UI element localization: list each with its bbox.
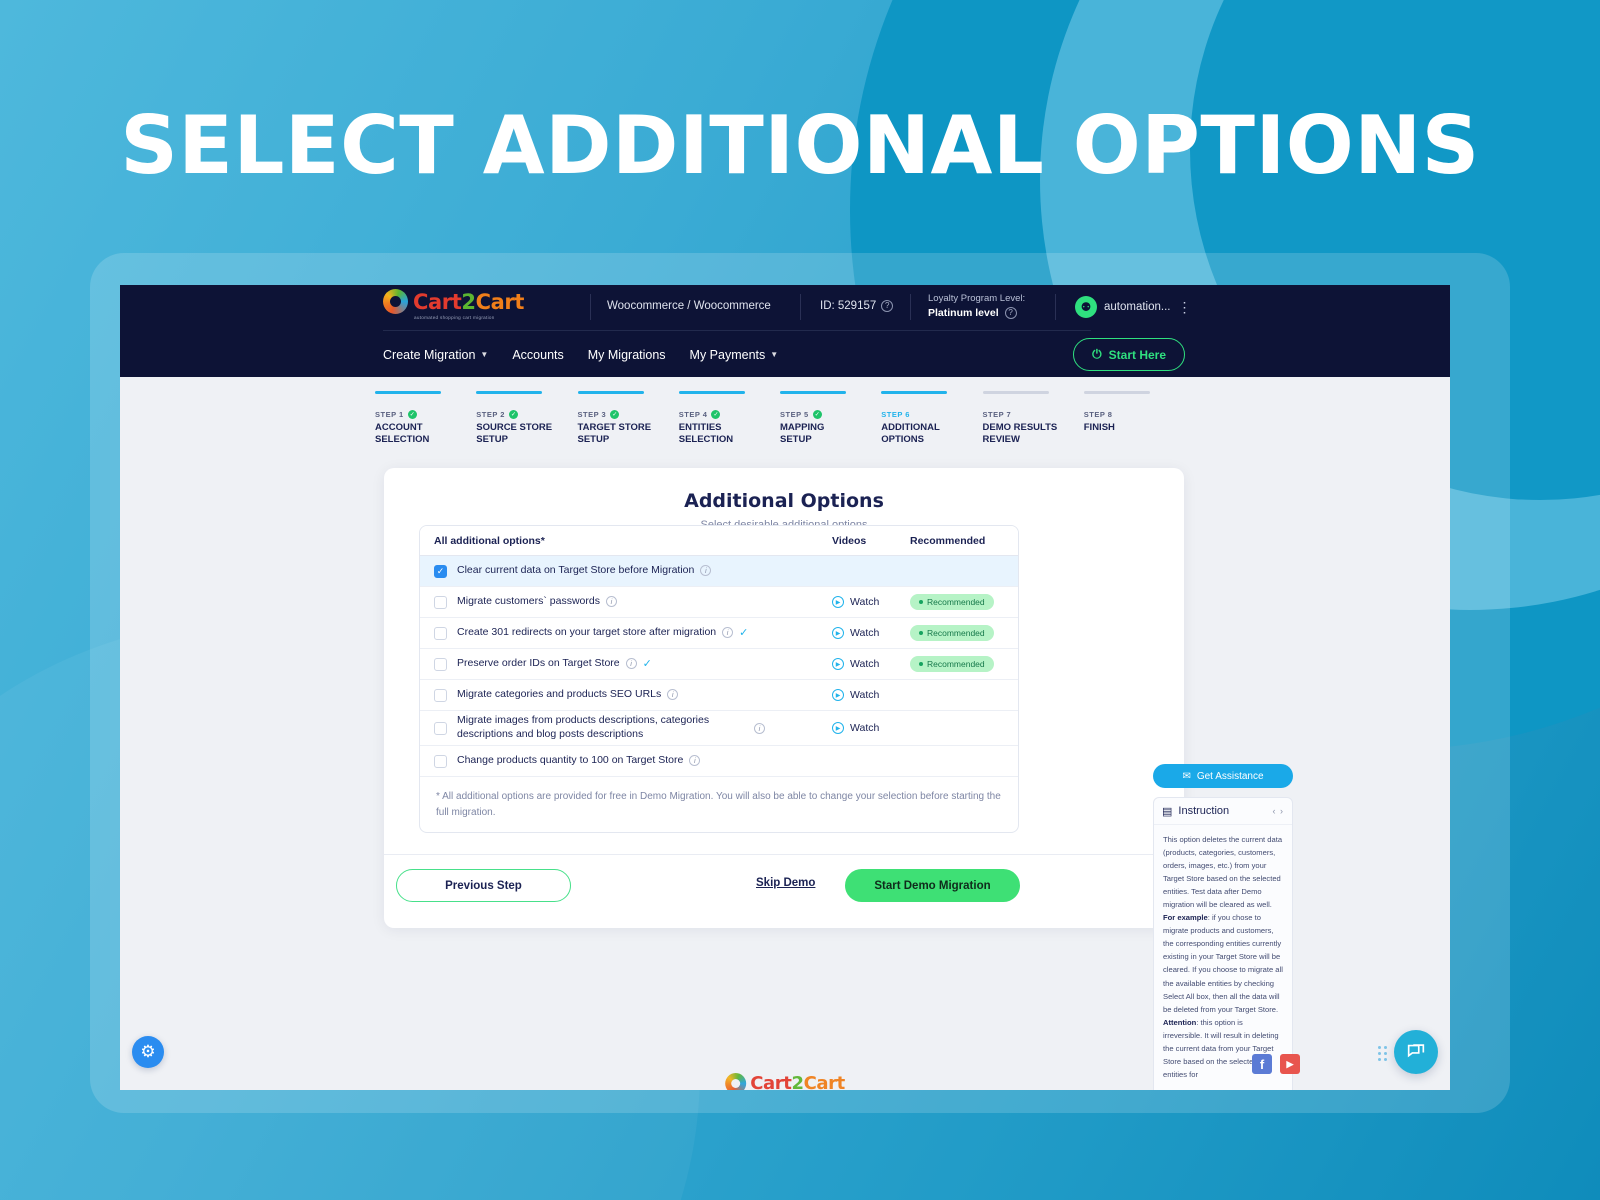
table-row[interactable]: Change products quantity to 100 on Targe… bbox=[420, 746, 1018, 777]
step-2[interactable]: STEP 2 ✓ SOURCE STORE SETUP bbox=[476, 391, 577, 445]
start-here-label: Start Here bbox=[1109, 348, 1166, 362]
step-2-check-icon: ✓ bbox=[509, 410, 518, 419]
step-3-check-icon: ✓ bbox=[610, 410, 619, 419]
menu-label-create-migration: Create Migration bbox=[383, 348, 475, 362]
instruction-example-label: For example bbox=[1163, 913, 1208, 922]
info-icon-row-6[interactable]: i bbox=[754, 723, 765, 734]
loyalty-caption: Loyalty Program Level: bbox=[928, 292, 1025, 306]
table-row[interactable]: Migrate categories and products SEO URLs… bbox=[420, 680, 1018, 711]
instruction-nav-arrows[interactable]: ‹ › bbox=[1273, 806, 1285, 816]
book-icon: ▤ bbox=[1162, 805, 1172, 818]
step-1-number: STEP 1 bbox=[375, 410, 404, 419]
app-window: Cart2Cart automated shopping cart migrat… bbox=[120, 285, 1450, 1090]
chat-drag-handle[interactable] bbox=[1378, 1046, 1390, 1060]
step-6-bar bbox=[881, 391, 947, 394]
video-cell-row-5[interactable]: ▶ Watch bbox=[832, 689, 910, 701]
step-6-number: STEP 6 bbox=[881, 410, 910, 419]
step-8-number: STEP 8 bbox=[1084, 410, 1113, 419]
chat-widget-button[interactable] bbox=[1394, 1030, 1438, 1074]
topbar-separator bbox=[383, 330, 1091, 331]
info-icon-row-4[interactable]: i bbox=[626, 658, 637, 669]
instruction-paragraph-1: This option deletes the current data (pr… bbox=[1163, 835, 1282, 909]
video-cell-row-6[interactable]: ▶ Watch bbox=[832, 722, 910, 734]
menu-label-accounts: Accounts bbox=[512, 348, 563, 362]
step-1-check-icon: ✓ bbox=[408, 410, 417, 419]
footer-logo: Cart2Cart bbox=[725, 1073, 845, 1090]
instruction-paragraph-2: : if you chose to migrate products and c… bbox=[1163, 913, 1283, 1013]
option-checkbox-change-products-quantity[interactable] bbox=[434, 755, 447, 768]
power-icon: ⏻ bbox=[1092, 347, 1102, 362]
step-7-label: DEMO RESULTS REVIEW bbox=[983, 422, 1084, 445]
table-row[interactable]: Migrate images from products description… bbox=[420, 711, 1018, 746]
footer-logo-part1: Cart bbox=[750, 1073, 791, 1090]
step-1[interactable]: STEP 1 ✓ ACCOUNT SELECTION bbox=[375, 391, 476, 445]
play-icon-row-2: ▶ bbox=[832, 596, 844, 608]
instruction-title: Instruction bbox=[1178, 805, 1229, 817]
app-logo[interactable]: Cart2Cart automated shopping cart migrat… bbox=[383, 289, 524, 320]
logo-text-part2: 2 bbox=[461, 290, 475, 314]
menu-item-my-payments[interactable]: My Payments ▼ bbox=[690, 348, 779, 362]
info-icon-row-5[interactable]: i bbox=[667, 689, 678, 700]
chat-bubble-icon: ✉ bbox=[1182, 771, 1190, 782]
video-cell-row-3[interactable]: ▶ Watch bbox=[832, 627, 910, 639]
option-text-row-7: Change products quantity to 100 on Targe… bbox=[457, 754, 683, 768]
step-3-label: TARGET STORE SETUP bbox=[578, 422, 679, 445]
get-assistance-label: Get Assistance bbox=[1197, 771, 1264, 782]
step-5-number: STEP 5 bbox=[780, 410, 809, 419]
menu-item-my-migrations[interactable]: My Migrations bbox=[588, 348, 666, 362]
step-3-number: STEP 3 bbox=[578, 410, 607, 419]
migration-id-text: ID: 529157 bbox=[820, 300, 876, 312]
option-label-row-1: Clear current data on Target Store befor… bbox=[457, 564, 832, 578]
video-cell-row-4[interactable]: ▶ Watch bbox=[832, 658, 910, 670]
menu-item-create-migration[interactable]: Create Migration ▼ bbox=[383, 348, 488, 362]
step-2-number: STEP 2 bbox=[476, 410, 505, 419]
recommended-cell-row-3: Recommended bbox=[910, 625, 1018, 641]
footer-cart2cart-swirl-icon bbox=[725, 1073, 746, 1090]
watch-label-row-2: Watch bbox=[850, 596, 879, 608]
column-header-recommended: Recommended bbox=[910, 535, 1018, 547]
table-row[interactable]: Create 301 redirects on your target stor… bbox=[420, 618, 1018, 649]
topbar-divider-2 bbox=[800, 294, 801, 320]
play-icon-row-3: ▶ bbox=[832, 627, 844, 639]
play-icon-row-4: ▶ bbox=[832, 658, 844, 670]
step-2-label: SOURCE STORE SETUP bbox=[476, 422, 577, 445]
main-menu-row: Create Migration ▼ Accounts My Migration… bbox=[120, 332, 1450, 377]
step-4[interactable]: STEP 4 ✓ ENTITIES SELECTION bbox=[679, 391, 780, 445]
hero-title: SELECT ADDITIONAL OPTIONS bbox=[0, 104, 1600, 188]
option-text-row-5: Migrate categories and products SEO URLs bbox=[457, 688, 661, 702]
menu-item-accounts[interactable]: Accounts bbox=[512, 348, 563, 362]
account-menu[interactable]: ⚉ automation... ⋮ bbox=[1075, 296, 1191, 318]
badge-label-row-4: Recommended bbox=[927, 659, 985, 669]
column-header-videos: Videos bbox=[832, 535, 910, 547]
badge-dot-icon-row-2 bbox=[919, 600, 923, 604]
status-badge-row-3: Recommended bbox=[910, 625, 994, 641]
instruction-body: This option deletes the current data (pr… bbox=[1154, 825, 1292, 1089]
additional-options-card: Additional Options Select desirable addi… bbox=[384, 468, 1184, 928]
recommended-cell-row-2: Recommended bbox=[910, 594, 1018, 610]
menu-label-my-payments: My Payments bbox=[690, 348, 766, 362]
option-label-row-4: Preserve order IDs on Target Store i ✓ bbox=[457, 657, 832, 671]
menu-label-my-migrations: My Migrations bbox=[588, 348, 666, 362]
table-row[interactable]: Preserve order IDs on Target Store i ✓ ▶… bbox=[420, 649, 1018, 680]
step-8-label: FINISH bbox=[1084, 422, 1185, 434]
step-7-number: STEP 7 bbox=[983, 410, 1012, 419]
option-label-row-2: Migrate customers` passwords i bbox=[457, 595, 832, 609]
additional-options-table: All additional options* Videos Recommend… bbox=[419, 525, 1019, 833]
step-5-check-icon: ✓ bbox=[813, 410, 822, 419]
previous-step-button[interactable]: Previous Step bbox=[396, 869, 571, 902]
status-badge-row-4: Recommended bbox=[910, 656, 994, 672]
badge-dot-icon-row-4 bbox=[919, 662, 923, 666]
blue-check-icon-row-3: ✓ bbox=[739, 626, 748, 640]
help-icon-loyalty[interactable]: ? bbox=[1005, 307, 1017, 319]
youtube-icon[interactable]: ▶ bbox=[1280, 1054, 1300, 1074]
topbar-row: Cart2Cart automated shopping cart migrat… bbox=[120, 285, 1450, 330]
step-5-bar bbox=[780, 391, 846, 394]
step-3-bar bbox=[578, 391, 644, 394]
option-label-row-7: Change products quantity to 100 on Targe… bbox=[457, 754, 832, 768]
info-cell-row-6: i bbox=[754, 723, 832, 734]
step-4-number: STEP 4 bbox=[679, 410, 708, 419]
option-checkbox-migrate-images[interactable] bbox=[434, 722, 447, 735]
kebab-menu-icon[interactable]: ⋮ bbox=[1177, 299, 1191, 316]
social-links: f ▶ bbox=[1252, 1054, 1300, 1074]
badge-label-row-2: Recommended bbox=[927, 597, 985, 607]
watch-label-row-6: Watch bbox=[850, 722, 879, 734]
step-5[interactable]: STEP 5 ✓ MAPPING SETUP bbox=[780, 391, 881, 445]
help-icon-id[interactable]: ? bbox=[881, 300, 893, 312]
watch-label-row-3: Watch bbox=[850, 627, 879, 639]
topbar-divider-1 bbox=[590, 294, 591, 320]
step-4-bar bbox=[679, 391, 745, 394]
step-8-bar bbox=[1084, 391, 1150, 394]
step-5-label: MAPPING SETUP bbox=[780, 422, 881, 445]
logo-text-part1: Cart bbox=[413, 290, 461, 314]
option-label-row-5: Migrate categories and products SEO URLs… bbox=[457, 688, 832, 702]
loyalty-program: Loyalty Program Level: Platinum level ? bbox=[928, 292, 1025, 321]
watch-label-row-4: Watch bbox=[850, 658, 879, 670]
video-cell-row-2[interactable]: ▶ Watch bbox=[832, 596, 910, 608]
loyalty-value: Platinum level bbox=[928, 306, 999, 321]
option-checkbox-migrate-customers-passwords[interactable] bbox=[434, 596, 447, 609]
option-checkbox-clear-current-data[interactable]: ✓ bbox=[434, 565, 447, 578]
option-label-row-6: Migrate images from products description… bbox=[457, 714, 754, 741]
info-icon-row-1[interactable]: i bbox=[700, 565, 711, 576]
footer-logo-part2: 2 bbox=[791, 1073, 803, 1090]
step-1-label: ACCOUNT SELECTION bbox=[375, 422, 476, 445]
start-here-button[interactable]: ⏻ Start Here bbox=[1073, 338, 1185, 371]
badge-label-row-3: Recommended bbox=[927, 628, 985, 638]
instruction-panel: ▤ Instruction ‹ › This option deletes th… bbox=[1153, 797, 1293, 1090]
chevron-down-icon-my-payments: ▼ bbox=[770, 350, 778, 359]
card-footer-separator bbox=[384, 854, 1184, 855]
column-header-options: All additional options* bbox=[434, 535, 832, 547]
topbar-divider-4 bbox=[1055, 294, 1056, 320]
settings-gear-button[interactable]: ⚙ bbox=[132, 1036, 164, 1068]
option-text-row-2: Migrate customers` passwords bbox=[457, 595, 600, 609]
info-icon-row-7[interactable]: i bbox=[689, 755, 700, 766]
page-title: Additional Options bbox=[384, 490, 1184, 512]
migration-id: ID: 529157 ? bbox=[820, 300, 893, 312]
option-text-row-4: Preserve order IDs on Target Store bbox=[457, 657, 620, 671]
instruction-attention-label: Attention bbox=[1163, 1018, 1196, 1027]
step-2-bar bbox=[476, 391, 542, 394]
step-4-check-icon: ✓ bbox=[711, 410, 720, 419]
store-pair-label: Woocommerce / Woocommerce bbox=[607, 300, 771, 312]
start-demo-migration-button[interactable]: Start Demo Migration bbox=[845, 869, 1020, 902]
option-checkbox-create-301-redirects[interactable] bbox=[434, 627, 447, 640]
step-8[interactable]: STEP 8 FINISH bbox=[1084, 391, 1185, 445]
get-assistance-button[interactable]: ✉ Get Assistance bbox=[1153, 764, 1293, 788]
account-name: automation... bbox=[1104, 301, 1170, 313]
logo-tagline: automated shopping cart migration bbox=[414, 315, 495, 320]
chat-bubbles-icon bbox=[1405, 1041, 1427, 1063]
play-icon-row-6: ▶ bbox=[832, 722, 844, 734]
table-header-row: All additional options* Videos Recommend… bbox=[420, 526, 1018, 556]
blue-check-icon-row-4: ✓ bbox=[643, 657, 652, 671]
step-1-bar bbox=[375, 391, 441, 394]
facebook-icon[interactable]: f bbox=[1252, 1054, 1272, 1074]
option-checkbox-migrate-seo-urls[interactable] bbox=[434, 689, 447, 702]
cart2cart-swirl-icon bbox=[383, 289, 408, 314]
top-navigation-bar: Cart2Cart automated shopping cart migrat… bbox=[120, 285, 1450, 377]
recommended-cell-row-4: Recommended bbox=[910, 656, 1018, 672]
status-badge-row-2: Recommended bbox=[910, 594, 994, 610]
instruction-header: ▤ Instruction ‹ › bbox=[1154, 798, 1292, 825]
option-checkbox-preserve-order-ids[interactable] bbox=[434, 658, 447, 671]
table-row[interactable]: Migrate customers` passwords i ▶ Watch R… bbox=[420, 587, 1018, 618]
skip-demo-link[interactable]: Skip Demo bbox=[756, 877, 815, 889]
step-7[interactable]: STEP 7 DEMO RESULTS REVIEW bbox=[983, 391, 1084, 445]
option-label-row-3: Create 301 redirects on your target stor… bbox=[457, 626, 832, 640]
migration-stepper: STEP 1 ✓ ACCOUNT SELECTION STEP 2 ✓ SOUR… bbox=[375, 391, 1185, 445]
table-row[interactable]: ✓ Clear current data on Target Store bef… bbox=[420, 556, 1018, 587]
main-menu: Create Migration ▼ Accounts My Migration… bbox=[383, 348, 778, 362]
topbar-divider-3 bbox=[910, 294, 911, 320]
badge-dot-icon-row-3 bbox=[919, 631, 923, 635]
step-6-label: ADDITIONAL OPTIONS bbox=[881, 422, 982, 445]
options-footnote: * All additional options are provided fo… bbox=[420, 777, 1018, 832]
footer-logo-part3: Cart bbox=[804, 1073, 845, 1090]
chevron-down-icon-create-migration: ▼ bbox=[480, 350, 488, 359]
step-7-bar bbox=[983, 391, 1049, 394]
info-icon-row-3[interactable]: i bbox=[722, 627, 733, 638]
info-icon-row-2[interactable]: i bbox=[606, 596, 617, 607]
step-3[interactable]: STEP 3 ✓ TARGET STORE SETUP bbox=[578, 391, 679, 445]
logo-text-part3: Cart bbox=[476, 290, 524, 314]
option-text-row-1: Clear current data on Target Store befor… bbox=[457, 564, 694, 578]
play-icon-row-5: ▶ bbox=[832, 689, 844, 701]
step-4-label: ENTITIES SELECTION bbox=[679, 422, 780, 445]
option-text-row-3: Create 301 redirects on your target stor… bbox=[457, 626, 716, 640]
step-6[interactable]: STEP 6 ADDITIONAL OPTIONS bbox=[881, 391, 982, 445]
watch-label-row-5: Watch bbox=[850, 689, 879, 701]
avatar: ⚉ bbox=[1075, 296, 1097, 318]
